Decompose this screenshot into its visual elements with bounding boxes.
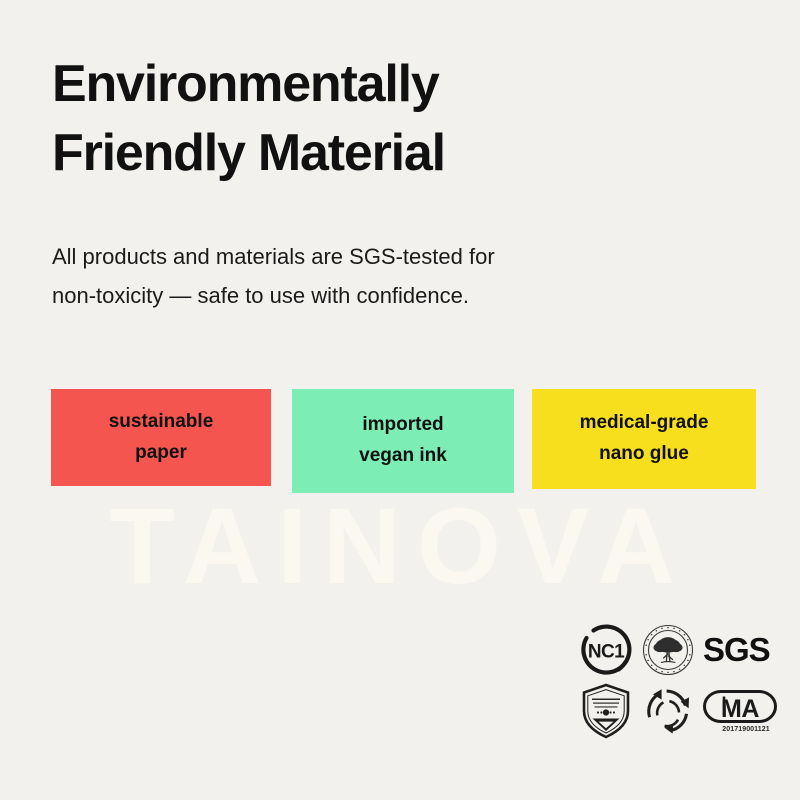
recycle-icon [641,684,695,738]
material-tag-line-2: nano glue [599,439,689,470]
material-tag-vegan-ink: imported vegan ink [292,389,514,493]
material-tag-nano-glue: medical-grade nano glue [532,389,756,489]
svg-text:MA: MA [721,695,759,723]
poster-canvas: TAINOVA Environmentally Friendly Materia… [0,0,800,800]
tree-seal-icon [641,623,695,677]
page-subtitle-line-1: All products and materials are SGS-teste… [52,237,672,276]
page-title-line-1: Environmentally [52,50,712,119]
page-subtitle: All products and materials are SGS-teste… [52,237,672,315]
page-title: Environmentally Friendly Material [52,50,712,187]
material-tag-line-1: imported [362,410,443,441]
svg-text:NC1: NC1 [588,642,625,663]
material-tag-sustainable-paper: sustainable paper [51,389,271,486]
shield-icon [581,683,631,739]
material-tag-line-1: medical-grade [580,408,709,439]
svg-text:SGS: SGS [703,631,770,668]
material-tag-row: sustainable paper imported vegan ink med… [51,389,757,493]
nc1-icon: NC1 [580,624,632,676]
page-subtitle-line-2: non-toxicity — safe to use with confiden… [52,276,672,315]
material-tag-line-1: sustainable [109,407,214,438]
sgs-icon: SGS [702,629,778,671]
material-tag-line-2: vegan ink [359,441,447,472]
cma-certificate-number: 201719001121 [713,726,779,733]
brand-watermark: TAINOVA [0,492,800,600]
page-title-line-2: Friendly Material [52,119,712,188]
material-tag-line-2: paper [135,438,187,469]
